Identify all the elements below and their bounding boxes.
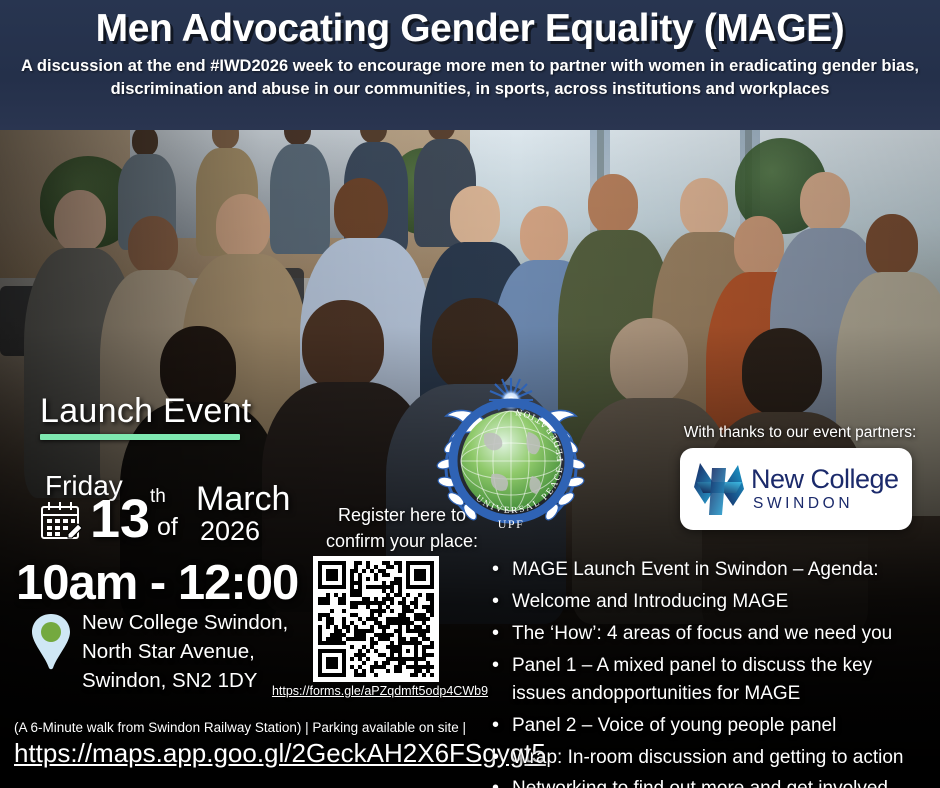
emblem-acronym: UPF [498, 517, 525, 531]
event-day: 13 [90, 492, 150, 546]
partner-logo-name: New College [751, 466, 899, 493]
list-item: Panel 2 – Voice of young people panel [490, 712, 930, 740]
venue-line-2: North Star Avenue, [82, 637, 288, 666]
qr-code-canvas [318, 561, 434, 677]
registration-form-link[interactable]: https://forms.gle/aPZqdmft5odp4CWb9 [260, 684, 500, 698]
event-poster: Men Advocating Gender Equality (MAGE) A … [0, 0, 940, 788]
travel-note: (A 6-Minute walk from Swindon Railway St… [14, 720, 466, 735]
list-item: MAGE Launch Event in Swindon – Agenda: [490, 556, 930, 584]
venue-line-1: New College Swindon, [82, 608, 288, 637]
launch-event-heading: Launch Event [40, 392, 252, 431]
location-pin-icon [28, 612, 74, 670]
new-college-star-icon [692, 460, 746, 518]
agenda-list: MAGE Launch Event in Swindon – Agenda: W… [490, 556, 930, 788]
venue-address: New College Swindon, North Star Avenue, … [82, 608, 288, 695]
event-of-word: of [157, 513, 178, 542]
launch-event-underline [40, 434, 240, 440]
list-item: Panel 1 – A mixed panel to discuss the k… [490, 652, 930, 708]
partner-logo-subtitle: SWINDON [753, 496, 899, 512]
poster-content: Launch Event Friday [0, 0, 940, 788]
list-item: Wrap: In-room discussion and getting to … [490, 744, 930, 772]
venue-line-3: Swindon, SN2 1DY [82, 666, 288, 695]
universal-peace-federation-emblem: UNIVERSAL PEACE FEDERATION UPF [432, 376, 590, 534]
calendar-icon [38, 500, 82, 542]
maps-link[interactable]: https://maps.app.goo.gl/2GeckAH2X6FSgygt… [14, 738, 546, 769]
event-year: 2026 [200, 516, 260, 547]
event-month: March [196, 480, 290, 519]
list-item: The ‘How’: 4 areas of focus and we need … [490, 620, 930, 648]
list-item: Welcome and Introducing MAGE [490, 588, 930, 616]
list-item: Networking to find out more and get invo… [490, 775, 930, 788]
event-day-ordinal: th [150, 486, 166, 508]
event-time: 10am - 12:00 [16, 555, 298, 611]
qr-code[interactable] [313, 556, 439, 682]
partner-logo-new-college-swindon: New College SWINDON [680, 448, 912, 530]
partners-label: With thanks to our event partners: [672, 424, 928, 442]
